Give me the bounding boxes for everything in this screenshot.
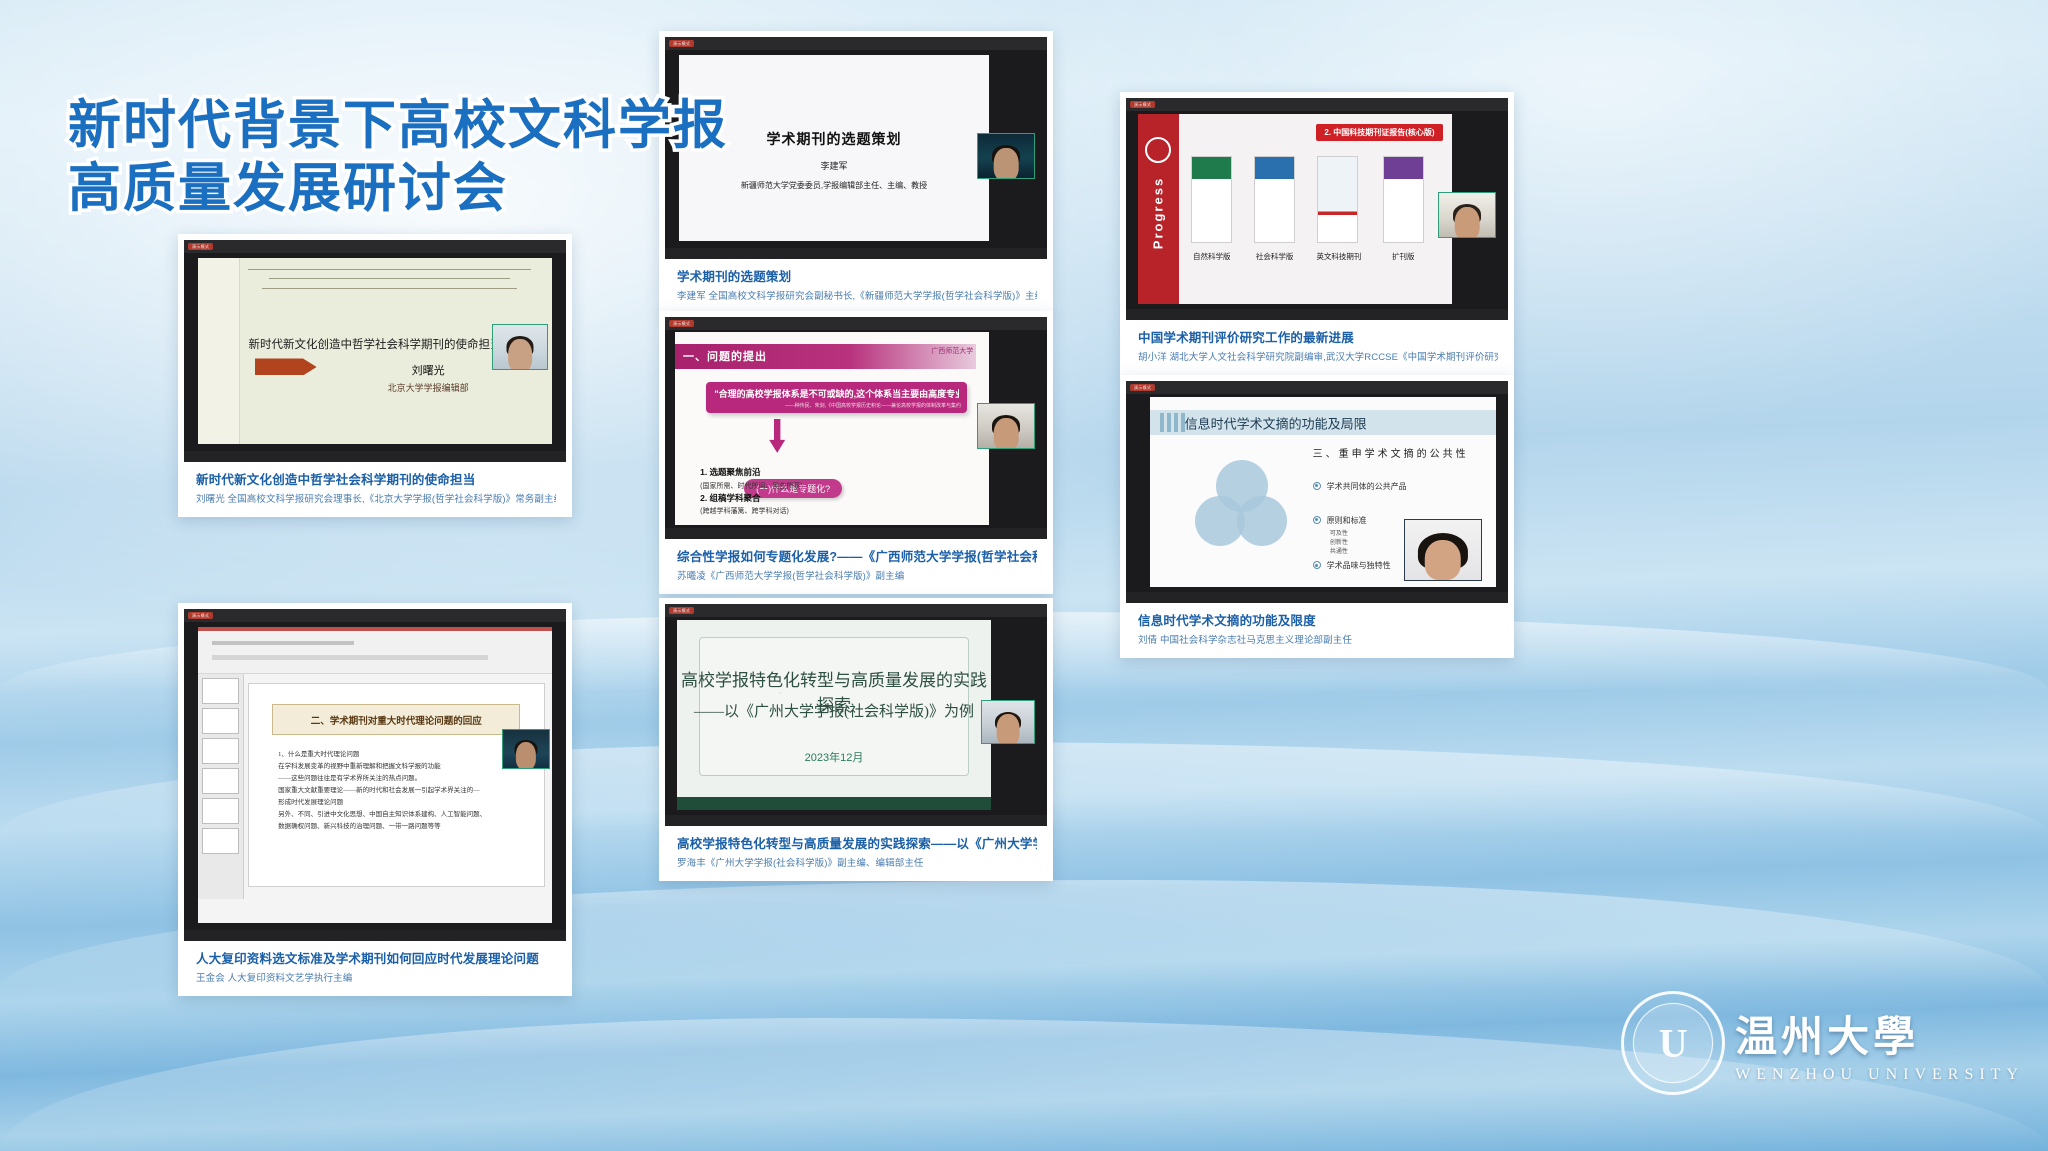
card-caption-title: 中国学术期刊评价研究工作的最新进展 bbox=[1138, 327, 1498, 346]
speaker-video-tile bbox=[492, 324, 548, 370]
session-card-hu-xiaoyang[interactable]: 演示模式 Progress 2. 中国科技期刊证报告(核心版) 自然科学版 社会… bbox=[1120, 92, 1514, 375]
university-logo: U 温州大學 WENZHOU UNIVERSITY bbox=[1621, 991, 2024, 1095]
slide-bullet: 形成时代发展理论问题 bbox=[278, 797, 520, 809]
university-crest-icon bbox=[1145, 137, 1171, 163]
zoom-bottombar bbox=[184, 930, 566, 941]
presentation-slide: Progress 2. 中国科技期刊证报告(核心版) 自然科学版 社会科学版 英… bbox=[1138, 114, 1452, 304]
university-mark: 广西师范大学 bbox=[931, 346, 973, 356]
zoom-topbar: 演示模式 bbox=[184, 240, 566, 253]
zoom-bottombar bbox=[184, 451, 566, 462]
session-card-su-xiling[interactable]: 演示模式 一、问题的提出 广西师范大学 "合理的高校学报体系是不可或缺的,这个体… bbox=[659, 311, 1053, 594]
card-caption-subtitle: 刘曙光 全国高校文科学报研究会理事长,《北京大学学报(哲学社会科学版)》常务副主… bbox=[196, 491, 556, 505]
session-card-liu-shuguang[interactable]: 演示模式 新时代新文化创造中哲学社会科学期刊的使命担当 刘曙光 北京大学学报编辑… bbox=[178, 234, 572, 517]
university-name-block: 温州大學 WENZHOU UNIVERSITY bbox=[1735, 1003, 2024, 1084]
slide-quote-source: ——种传民、朱剑,《中国高校学报历史积论——兼论高校学报的体制改革与集约化发展》… bbox=[785, 402, 961, 409]
page-title-line-2: 高质量发展研讨会 bbox=[68, 158, 728, 221]
card-caption-subtitle: 胡小洋 湖北大学人文社会科学研究院副编审,武汉大学RCCSE《中国学术期刊评价研… bbox=[1138, 349, 1498, 363]
zoom-mode-pill: 演示模式 bbox=[669, 40, 694, 47]
card-caption: 综合性学报如何专题化发展?——《广西师范大学学报(哲学社会科学版)》的初步探索 … bbox=[665, 539, 1047, 590]
card-caption-title: 人大复印资料选文标准及学术期刊如何回应时代发展理论问题 bbox=[196, 948, 556, 967]
speaker-video-tile bbox=[502, 729, 550, 769]
ppt-slide-thumbnails[interactable] bbox=[198, 674, 244, 899]
card-caption-subtitle: 罗海丰《广州大学学报(社会科学版)》副主编、编辑部主任 bbox=[677, 855, 1037, 869]
slide-title-line-2: ——以《广州大学学报(社会科学版)》为例 bbox=[677, 700, 991, 721]
bullet-radio-icon bbox=[1313, 482, 1321, 490]
zoom-topbar: 演示模式 bbox=[665, 604, 1047, 617]
university-name-cn: 温州大學 bbox=[1735, 1003, 2024, 1064]
zoom-screenshot: 演示模式 二、学术期刊对重大时代理论问题的回应 bbox=[184, 609, 566, 941]
zoom-topbar: 演示模式 bbox=[1126, 98, 1508, 111]
slide-section: 三、重申学术文摘的公共性 bbox=[1313, 445, 1469, 460]
slide-headline: 信息时代学术文摘的功能及局限 bbox=[1185, 413, 1367, 432]
card-caption-subtitle: 苏曦凌《广西师范大学学报(哲学社会科学版)》副主编 bbox=[677, 568, 1037, 582]
card-caption-title: 新时代新文化创造中哲学社会科学期刊的使命担当 bbox=[196, 469, 556, 488]
card-caption: 信息时代学术文摘的功能及限度 刘倩 中国社会科学杂志社马克思主义理论部副主任 bbox=[1126, 603, 1508, 654]
journal-cover-label: 社会科学版 bbox=[1248, 251, 1301, 262]
card-caption-subtitle: 李建军 全国高校文科学报研究会副秘书长,《新疆师范大学学报(哲学社会科学版)》主… bbox=[677, 288, 1037, 302]
speaker-video-tile bbox=[1404, 519, 1482, 581]
zoom-topbar: 演示模式 bbox=[665, 317, 1047, 330]
slide-bullet: 国家重大文献重要理论——新的时代和社会发展一引起学术界关注的— bbox=[278, 785, 520, 797]
slide-speaker-org: 北京大学学报编辑部 bbox=[304, 381, 552, 394]
bullet-radio-icon bbox=[1313, 561, 1321, 569]
slide-progress-label: Progress bbox=[1151, 177, 1166, 249]
zoom-topbar: 演示模式 bbox=[665, 37, 1047, 50]
card-caption-title: 信息时代学术文摘的功能及限度 bbox=[1138, 610, 1498, 629]
slide-sub-items: 可及性 创新性 共通性 bbox=[1330, 530, 1348, 557]
presentation-slide: 高校学报特色化转型与高质量发展的实践探索 ——以《广州大学学报(社会科学版)》为… bbox=[677, 620, 991, 810]
slide-side-panel: Progress bbox=[1138, 114, 1179, 304]
down-arrow-icon bbox=[769, 419, 785, 453]
seal-glyph: U bbox=[1659, 1020, 1688, 1067]
zoom-screenshot: 演示模式 高校学报特色化转型与高质量发展的实践探索 ——以《广州大学学报(社会科… bbox=[665, 604, 1047, 826]
page-title-line-1: 新时代背景下高校文科学报 bbox=[68, 95, 728, 158]
journal-cover-label: 扩刊版 bbox=[1377, 251, 1430, 262]
zoom-screenshot: 演示模式 一、问题的提出 广西师范大学 "合理的高校学报体系是不可或缺的,这个体… bbox=[665, 317, 1047, 539]
bullet-radio-icon bbox=[1313, 516, 1321, 524]
slide-bullet: 数据确权问题、新兴科技的治理问题、一带一路问题等等 bbox=[278, 821, 520, 833]
zoom-bottombar bbox=[665, 248, 1047, 259]
journal-cover-label: 自然科学版 bbox=[1185, 251, 1238, 262]
card-caption: 中国学术期刊评价研究工作的最新进展 胡小洋 湖北大学人文社会科学研究院副编审,武… bbox=[1126, 320, 1508, 371]
slide-list: 1. 选题聚焦前沿 (国家所需、时代所问、民生所系) 2. 组稿学科聚合 (跨越… bbox=[700, 466, 803, 517]
zoom-screenshot: 演示模式 Progress 2. 中国科技期刊证报告(核心版) 自然科学版 社会… bbox=[1126, 98, 1508, 320]
slide-list-item: 1. 选题聚焦前沿 bbox=[700, 467, 760, 477]
card-caption: 高校学报特色化转型与高质量发展的实践探索——以《广州大学学报(社会科学版)》为例… bbox=[665, 826, 1047, 877]
decorative-circle bbox=[1237, 496, 1287, 546]
slide-bullet: 在学科发展变革的视野中重新理解和把握文科学报的功能 bbox=[278, 761, 520, 773]
ppt-slide-canvas: 二、学术期刊对重大时代理论问题的回应 1、什么是重大时代理论问题 在学科发展变革… bbox=[248, 683, 545, 887]
zoom-mode-pill: 演示模式 bbox=[669, 607, 694, 614]
journal-cover bbox=[1317, 156, 1358, 243]
journal-cover bbox=[1254, 156, 1295, 243]
page-title: 新时代背景下高校文科学报 高质量发展研讨会 bbox=[68, 95, 728, 220]
zoom-screenshot: 演示模式 信息时代学术文摘的功能及局限 三、重申学术文摘的公共性 学术共同体的公… bbox=[1126, 381, 1508, 603]
powerpoint-window: 二、学术期刊对重大时代理论问题的回应 1、什么是重大时代理论问题 在学科发展变革… bbox=[198, 627, 552, 923]
journal-cover bbox=[1191, 156, 1232, 243]
slide-bullet: 1、什么是重大时代理论问题 bbox=[278, 749, 520, 761]
slide-quote-box: "合理的高校学报体系是不可或缺的,这个体系当主要由高度专业(专题)化的学报构成"… bbox=[706, 382, 967, 413]
card-caption: 新时代新文化创造中哲学社会科学期刊的使命担当 刘曙光 全国高校文科学报研究会理事… bbox=[184, 462, 566, 513]
session-card-liu-qian[interactable]: 演示模式 信息时代学术文摘的功能及局限 三、重申学术文摘的公共性 学术共同体的公… bbox=[1120, 375, 1514, 658]
header-bars-icon bbox=[1160, 413, 1186, 432]
zoom-mode-pill: 演示模式 bbox=[1130, 101, 1155, 108]
card-caption-title: 学术期刊的选题策划 bbox=[677, 266, 1037, 285]
slide-footer-band bbox=[677, 797, 991, 810]
zoom-mode-pill: 演示模式 bbox=[1130, 384, 1155, 391]
slide-headline: 二、学术期刊对重大时代理论问题的回应 bbox=[273, 713, 519, 727]
slide-quote-text: "合理的高校学报体系是不可或缺的,这个体系当主要由高度专业(专题)化的学报构成"… bbox=[714, 387, 959, 400]
university-seal-icon: U bbox=[1621, 991, 1725, 1095]
speaker-video-tile bbox=[977, 133, 1035, 179]
slide-bullet: 学术品味与独特性 bbox=[1313, 560, 1391, 571]
journal-cover bbox=[1383, 156, 1424, 243]
zoom-screenshot: 演示模式 新时代新文化创造中哲学社会科学期刊的使命担当 刘曙光 北京大学学报编辑… bbox=[184, 240, 566, 462]
university-name-en: WENZHOU UNIVERSITY bbox=[1735, 1066, 2024, 1084]
slide-banner: 2. 中国科技期刊证报告(核心版) bbox=[1316, 124, 1442, 141]
session-card-luo-haifeng[interactable]: 演示模式 高校学报特色化转型与高质量发展的实践探索 ——以《广州大学学报(社会科… bbox=[659, 598, 1053, 881]
ppt-ribbon bbox=[198, 627, 552, 674]
slide-bullet: 学术共同体的公共产品 bbox=[1313, 481, 1407, 492]
card-caption: 学术期刊的选题策划 李建军 全国高校文科学报研究会副秘书长,《新疆师范大学学报(… bbox=[665, 259, 1047, 310]
card-caption: 人大复印资料选文标准及学术期刊如何回应时代发展理论问题 王金会 人大复印资料文艺… bbox=[184, 941, 566, 992]
slide-bullet: ——这些问题往往是有学术界所关注的热点问题。 bbox=[278, 773, 520, 785]
journal-cover-label: 英文科技期刊 bbox=[1308, 251, 1371, 262]
card-caption-subtitle: 刘倩 中国社会科学杂志社马克思主义理论部副主任 bbox=[1138, 632, 1498, 646]
card-caption-title: 高校学报特色化转型与高质量发展的实践探索——以《广州大学学报(社会科学版)》为例 bbox=[677, 833, 1037, 852]
slide-title-band: 二、学术期刊对重大时代理论问题的回应 bbox=[272, 704, 520, 734]
slide-section-header-text: 一、问题的提出 bbox=[683, 348, 767, 364]
speaker-video-tile bbox=[977, 403, 1035, 449]
presentation-slide: 一、问题的提出 广西师范大学 "合理的高校学报体系是不可或缺的,这个体系当主要由… bbox=[675, 332, 989, 525]
slide-date: 2023年12月 bbox=[677, 749, 991, 765]
speaker-video-tile bbox=[981, 700, 1035, 744]
zoom-topbar: 演示模式 bbox=[184, 609, 566, 622]
zoom-mode-pill: 演示模式 bbox=[188, 243, 213, 250]
zoom-mode-pill: 演示模式 bbox=[669, 320, 694, 327]
zoom-bottombar bbox=[1126, 592, 1508, 603]
zoom-bottombar bbox=[1126, 309, 1508, 320]
slide-bullet: 另外、不同、引进中文化思想、中国自主知识体系建构、人工智能问题、 bbox=[278, 809, 520, 821]
zoom-bottombar bbox=[665, 815, 1047, 826]
session-card-wang-jinhui[interactable]: 演示模式 二、学术期刊对重大时代理论问题的回应 bbox=[178, 603, 572, 996]
slide-list-note: (跨越学科藩篱、跨学科对话) bbox=[700, 508, 789, 515]
zoom-mode-pill: 演示模式 bbox=[188, 612, 213, 619]
poster-canvas: 新时代背景下高校文科学报 高质量发展研讨会 演示模式 新时代新文化创造中哲学社会… bbox=[0, 0, 2048, 1151]
slide-bullet: 原则和标准 bbox=[1313, 515, 1367, 526]
zoom-bottombar bbox=[665, 528, 1047, 539]
slide-list-item: 2. 组稿学科聚合 bbox=[700, 493, 760, 503]
card-caption-title: 综合性学报如何专题化发展?——《广西师范大学学报(哲学社会科学版)》的初步探索 bbox=[677, 546, 1037, 565]
speaker-video-tile bbox=[1438, 192, 1496, 238]
slide-header-band: 信息时代学术文摘的功能及局限 bbox=[1150, 410, 1496, 435]
slide-list-note: (国家所需、时代所问、民生所系) bbox=[700, 483, 803, 490]
card-caption-subtitle: 王金会 人大复印资料文艺学执行主编 bbox=[196, 970, 556, 984]
zoom-topbar: 演示模式 bbox=[1126, 381, 1508, 394]
